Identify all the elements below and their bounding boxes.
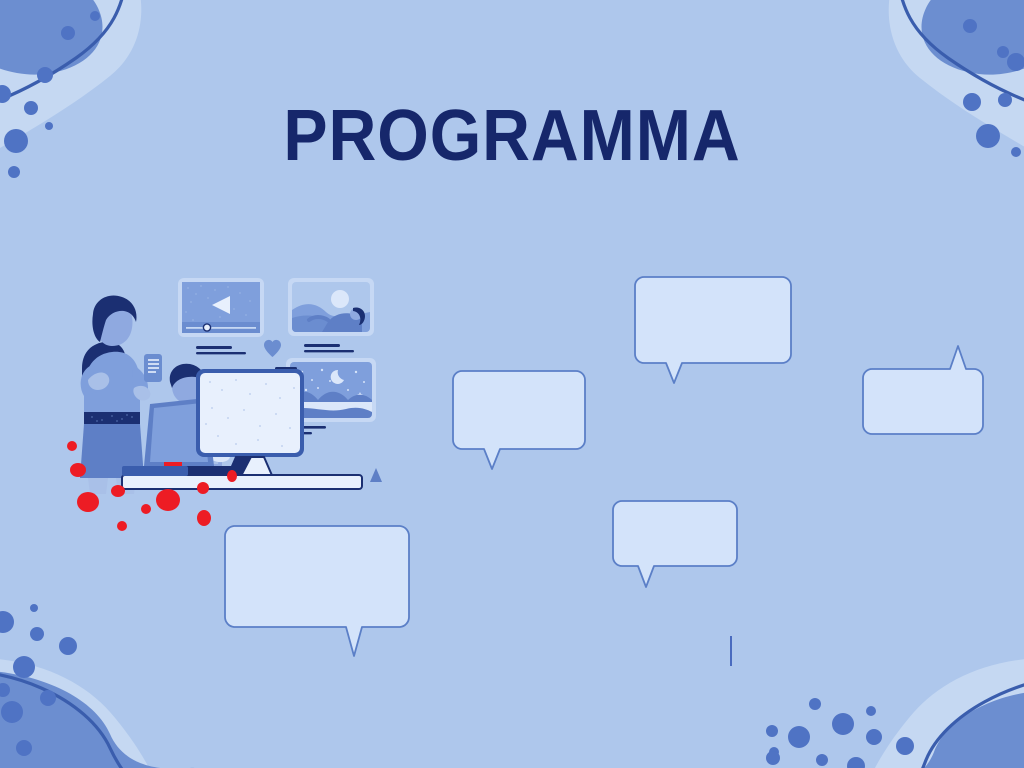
dot — [766, 725, 778, 737]
dot — [4, 129, 28, 153]
red-dot — [111, 485, 125, 497]
red-dot — [67, 441, 77, 451]
red-dot — [197, 510, 211, 526]
dot — [866, 729, 882, 745]
desk-top — [122, 475, 362, 489]
red-dot — [141, 504, 151, 514]
dot — [13, 656, 35, 678]
dot — [37, 67, 53, 83]
dot — [16, 740, 32, 756]
caption-line — [196, 346, 232, 349]
sun-icon — [331, 290, 349, 308]
dot — [816, 754, 828, 766]
dot — [30, 604, 38, 612]
dot — [1011, 147, 1021, 157]
dot — [30, 627, 44, 641]
dot — [61, 26, 75, 40]
laptop-accent[interactable] — [164, 462, 182, 466]
speech-bubble-shape[interactable] — [634, 276, 792, 384]
progress-knob[interactable] — [203, 324, 210, 331]
dot — [832, 713, 854, 735]
dot — [1, 701, 23, 723]
woman-belt — [84, 412, 140, 424]
triangle-mark — [370, 468, 382, 482]
speech-bubble-2[interactable] — [452, 370, 586, 470]
woman-leg-left — [88, 478, 108, 494]
dot — [866, 706, 876, 716]
people-watching-media-illustration — [60, 268, 400, 534]
speech-bubble-shape[interactable] — [862, 344, 984, 436]
text-cursor[interactable] — [730, 636, 732, 666]
speech-bubble-1[interactable] — [634, 276, 792, 384]
desk-riser — [122, 466, 188, 476]
dot — [997, 46, 1009, 58]
red-dot — [156, 489, 180, 511]
red-dot — [197, 482, 209, 494]
red-dot — [77, 492, 99, 512]
misc-marks — [370, 468, 382, 482]
speech-bubble-4[interactable] — [224, 525, 410, 657]
dot — [788, 726, 810, 748]
slide-canvas: PROGRAMMA — [0, 0, 1024, 768]
dot — [896, 737, 914, 755]
speech-bubble-3[interactable] — [862, 344, 984, 436]
dot — [8, 166, 20, 178]
caption-line — [304, 344, 340, 347]
dot — [963, 19, 977, 33]
red-dot — [227, 470, 237, 482]
speech-bubble-shape[interactable] — [224, 525, 410, 657]
monitor-screen[interactable] — [200, 373, 300, 453]
illustration-graphic — [60, 268, 400, 534]
dot — [766, 751, 780, 765]
dot — [40, 690, 56, 706]
video-player-card — [178, 278, 264, 354]
heart-icon[interactable] — [264, 340, 281, 357]
dot — [809, 698, 821, 710]
speech-bubble-shape[interactable] — [612, 500, 738, 588]
dot — [998, 93, 1012, 107]
page-title: PROGRAMMA — [41, 100, 983, 172]
card-image — [292, 282, 370, 332]
progress-track[interactable] — [186, 327, 256, 329]
dot — [24, 101, 38, 115]
beach-photo-card — [288, 278, 374, 352]
caption-line — [304, 350, 354, 352]
red-dot — [117, 521, 127, 531]
speech-bubble-shape[interactable] — [452, 370, 586, 470]
caption-line — [196, 352, 246, 354]
red-dot — [70, 463, 86, 477]
speech-bubble-5[interactable] — [612, 500, 738, 588]
dot — [90, 11, 100, 21]
dot — [59, 637, 77, 655]
